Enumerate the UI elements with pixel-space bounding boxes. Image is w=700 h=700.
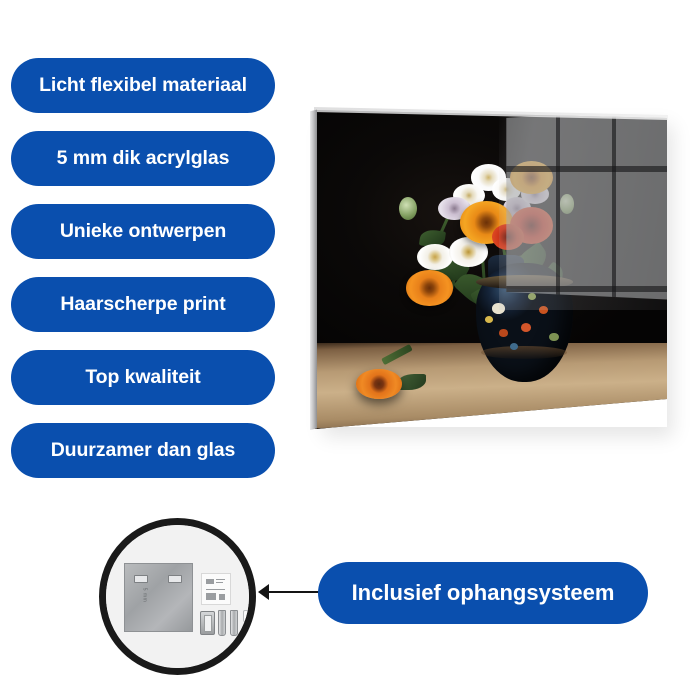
screw <box>218 610 226 636</box>
screw <box>230 610 238 636</box>
feature-badge-label: Top kwaliteit <box>85 368 200 388</box>
instruction-sheet <box>201 573 231 605</box>
product-feature-infographic: Licht flexibel materiaal 5 mm dik acrylg… <box>0 0 700 700</box>
sheet-diagram <box>206 579 214 584</box>
artwork-table-edge <box>313 428 671 435</box>
feature-badge-label: Haarscherpe print <box>60 295 225 315</box>
metal-mounting-plate: 5 mm <box>124 563 193 632</box>
callout-label: Inclusief ophangsysteem <box>352 582 615 604</box>
panel-drop-shadow <box>317 115 667 427</box>
panel-left-edge-thickness <box>310 108 317 430</box>
feature-badge-4[interactable]: Haarscherpe print <box>11 277 275 332</box>
arrow-left-icon <box>258 584 269 600</box>
sheet-diagram <box>206 593 216 600</box>
mounting-kit-photo: 5 mm <box>102 521 256 675</box>
sheet-line <box>206 589 225 590</box>
feature-badge-label: 5 mm dik acrylglas <box>57 149 230 169</box>
plate-slot <box>168 575 182 583</box>
spacer-clip <box>243 623 256 635</box>
wall-anchor <box>200 611 215 635</box>
wall-anchor-inner <box>204 615 212 632</box>
product-panel <box>305 95 680 445</box>
spacer-clip <box>243 610 256 622</box>
feature-badge-5[interactable]: Top kwaliteit <box>11 350 275 405</box>
feature-badge-1[interactable]: Licht flexibel materiaal <box>11 58 275 113</box>
sheet-diagram <box>219 594 225 600</box>
plate-marking: 5 mm <box>141 588 147 603</box>
feature-badge-label: Licht flexibel materiaal <box>39 76 247 96</box>
magnifier-circle-icon: 5 mm <box>99 518 256 675</box>
hanging-system-callout-badge[interactable]: Inclusief ophangsysteem <box>318 562 648 624</box>
feature-badge-2[interactable]: 5 mm dik acrylglas <box>11 131 275 186</box>
feature-badge-list: Licht flexibel materiaal 5 mm dik acrylg… <box>11 58 275 496</box>
feature-badge-label: Duurzamer dan glas <box>51 441 236 461</box>
feature-badge-6[interactable]: Duurzamer dan glas <box>11 423 275 478</box>
sheet-line <box>216 582 223 583</box>
plate-slot <box>134 575 148 583</box>
feature-badge-label: Unieke ontwerpen <box>60 222 226 242</box>
sheet-line <box>216 579 225 580</box>
feature-badge-3[interactable]: Unieke ontwerpen <box>11 204 275 259</box>
